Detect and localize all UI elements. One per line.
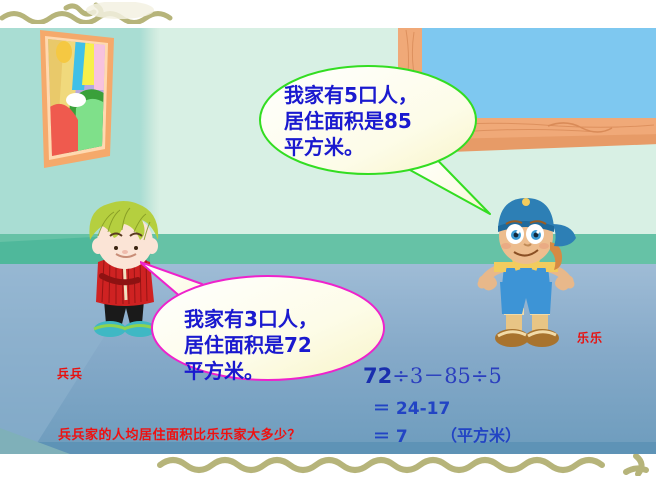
math-expression: ÷3－85÷5 [392,364,502,388]
math-unit-label: （平方米） [441,422,521,446]
top-wavy-border [0,2,656,24]
math-dividend: 72 [363,364,392,388]
math-line-1: 72÷3－85÷5 [363,360,502,390]
speech-text-lele: 我家有5口人， 居住面积是85 平方米。 [284,82,480,160]
question-prompt: 兵兵家的人均居住面积比乐乐家大多少？ [58,424,301,443]
math-line-2: ＝ 24-17 [373,394,450,419]
speech-bubble-bingbing: 我家有3口人， 居住面积是72 平方米。 [140,258,388,398]
floor-front-edge [0,442,656,454]
speech-bubble-lele: 我家有5口人， 居住面积是85 平方米。 [258,62,502,224]
math-line-3: ＝ 7 [373,422,408,447]
label-bingbing: 兵兵 [57,365,83,382]
wall-picture-frame [36,30,118,168]
speech-text-bingbing: 我家有3口人， 居住面积是72 平方米。 [184,306,380,384]
lesson-slide: 兵兵 乐乐 我家有5口人， 居住面积是85 平方米。 [0,0,656,482]
bottom-wavy-border [0,454,656,476]
label-lele: 乐乐 [577,329,603,346]
